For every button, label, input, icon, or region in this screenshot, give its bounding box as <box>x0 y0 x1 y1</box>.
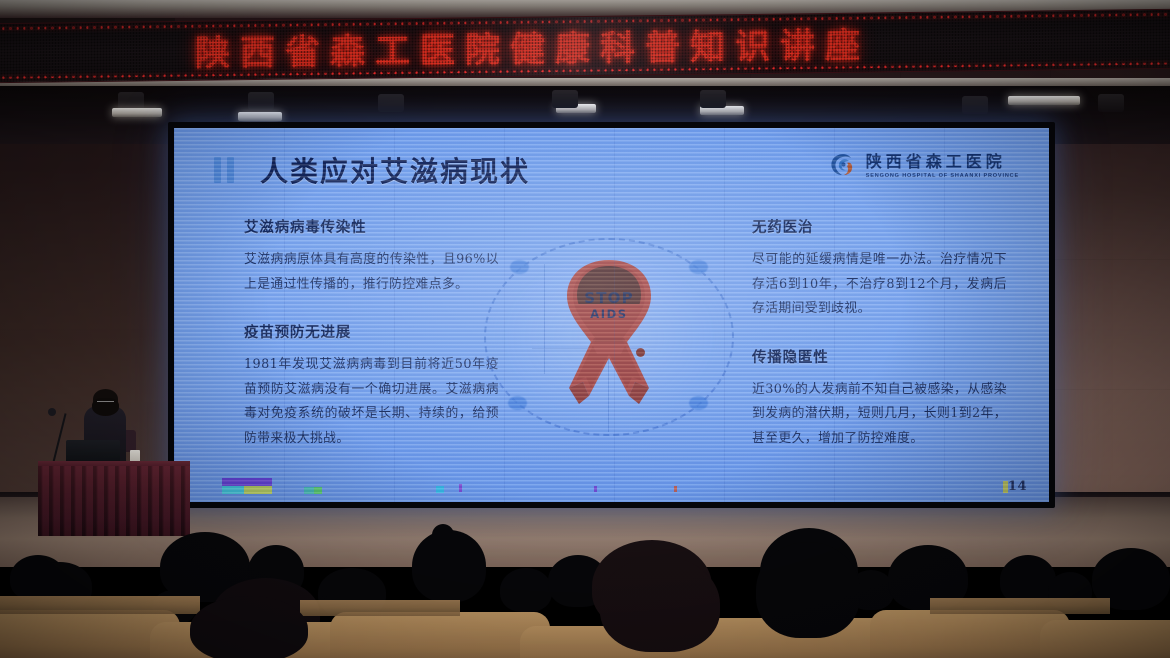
light-mount <box>1098 94 1124 112</box>
section-heading: 疫苗预防无进展 <box>244 321 499 342</box>
section-body: 近30%的人发病前不知自己被感染，从感染到发病的潜伏期，短则几月，长则1到2年，… <box>752 378 1007 452</box>
screen-glitch-block <box>594 486 597 492</box>
audience-head-foreground <box>756 542 860 638</box>
marquee-glare <box>430 15 770 77</box>
light-mount <box>700 90 726 108</box>
slide-section: 无药医治 尽可能的延缓病情是唯一办法。治疗情况下存活6到10年，不治疗8到12个… <box>752 216 1007 322</box>
spotlight-icon <box>238 112 282 121</box>
screen-glitch-block <box>459 484 462 492</box>
microphone-icon <box>48 408 56 416</box>
hospital-name-cn: 陕西省森工医院 <box>866 148 1019 172</box>
seat-row-band <box>930 598 1110 614</box>
seat-back <box>330 612 550 658</box>
node-dot-icon <box>510 260 529 274</box>
audience-hair-tuft <box>432 524 454 546</box>
node-dot-icon <box>508 396 527 410</box>
page-number: 14 <box>1008 479 1027 494</box>
screen-glitch-block <box>244 486 272 494</box>
screen-glitch-block <box>314 487 322 494</box>
podium-drape-folds <box>38 466 190 536</box>
auditorium-photo: 陕西省森工医院健康科普知识讲座 人类应对艾滋病现状 <box>0 0 1170 658</box>
light-mount <box>378 94 404 112</box>
node-dot-icon <box>689 260 708 274</box>
seat-back <box>1040 620 1170 658</box>
led-screen: 人类应对艾滋病现状 陕西省森工医院 SENGO <box>174 128 1049 502</box>
hospital-name-en: SENGONG HOSPITAL OF SHAANXI PROVINCE <box>866 173 1019 179</box>
screen-glitch-block <box>222 486 244 494</box>
section-body: 1981年发现艾滋病病毒到目前将近50年疫苗预防艾滋病没有一个确切进展。艾滋病病… <box>244 353 499 451</box>
light-mount <box>248 92 274 110</box>
section-heading: 无药医治 <box>752 216 1007 237</box>
node-dot-icon <box>689 396 708 410</box>
light-mount <box>962 96 988 114</box>
section-body: 艾滋病病原体具有高度的传染性，且96%以上是通过性传播的，推行防控难点多。 <box>244 248 499 297</box>
podium-table <box>38 466 190 536</box>
light-mount <box>552 90 578 108</box>
seat-row-band <box>300 600 460 616</box>
aids-ribbon-icon: STOP AIDS <box>539 254 679 422</box>
hospital-logo: 陕西省森工医院 SENGONG HOSPITAL OF SHAANXI PROV… <box>827 148 1019 179</box>
slide-title-row: 人类应对艾滋病现状 <box>214 150 530 190</box>
section-heading: 传播隐匿性 <box>752 346 1007 367</box>
title-accent-bars-icon <box>214 157 234 183</box>
spotlight-icon <box>112 108 162 117</box>
center-graphic: STOP AIDS <box>484 224 734 456</box>
screen-glitch-block <box>304 487 314 494</box>
led-screen-bezel: 人类应对艾滋病现状 陕西省森工医院 SENGO <box>168 122 1055 508</box>
audience-head-foreground <box>600 556 720 652</box>
hospital-logo-text: 陕西省森工医院 SENGONG HOSPITAL OF SHAANXI PROV… <box>866 148 1019 179</box>
slide-section: 艾滋病病毒传染性 艾滋病病原体具有高度的传染性，且96%以上是通过性传播的，推行… <box>244 216 499 297</box>
audience-head <box>500 568 552 612</box>
screen-glitch-block <box>436 486 444 493</box>
slide-left-column: 艾滋病病毒传染性 艾滋病病原体具有高度的传染性，且96%以上是通过性传播的，推行… <box>244 216 499 475</box>
section-body: 尽可能的延缓病情是唯一办法。治疗情况下存活6到10年，不治疗8到12个月，发病后… <box>752 248 1007 322</box>
slide-right-column: 无药医治 尽可能的延缓病情是唯一办法。治疗情况下存活6到10年，不治疗8到12个… <box>752 216 1007 475</box>
spotlight-icon <box>1008 96 1080 105</box>
screen-glitch-block <box>222 478 272 486</box>
presenter-glasses-icon <box>97 401 114 405</box>
page-title: 人类应对艾滋病现状 <box>260 150 530 190</box>
slide-section: 传播隐匿性 近30%的人发病前不知自己被感染，从感染到发病的潜伏期，短则几月，长… <box>752 346 1007 452</box>
presentation-slide: 人类应对艾滋病现状 陕西省森工医院 SENGO <box>174 128 1049 502</box>
screen-glitch-block <box>674 486 677 492</box>
hospital-logo-icon <box>827 149 857 179</box>
slide-section: 疫苗预防无进展 1981年发现艾滋病病毒到目前将近50年疫苗预防艾滋病没有一个确… <box>244 321 499 451</box>
audience-head-foreground <box>190 596 308 658</box>
section-heading: 艾滋病病毒传染性 <box>244 216 499 237</box>
seat-row-band <box>0 596 200 614</box>
